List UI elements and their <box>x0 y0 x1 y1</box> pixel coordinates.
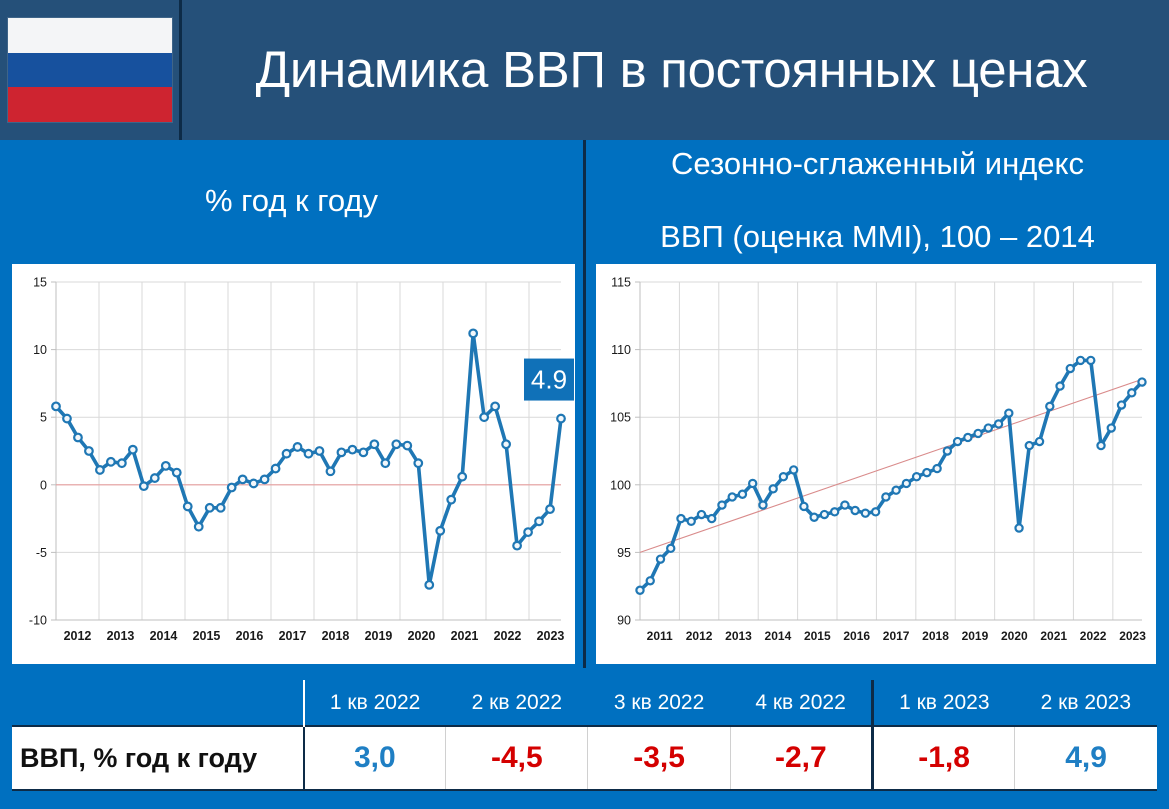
table-col-header-4: 1 кв 2023 <box>872 680 1014 726</box>
table-corner-cell <box>12 680 304 726</box>
x-tick-label: 2013 <box>107 629 135 643</box>
left-chart-subtitle: % год к году <box>0 140 583 262</box>
data-point-marker <box>821 511 828 518</box>
data-point-marker <box>118 459 126 467</box>
data-point-marker <box>1036 438 1043 445</box>
data-point-marker <box>841 501 848 508</box>
data-point-marker <box>1046 403 1053 410</box>
x-tick-label: 2018 <box>922 629 949 643</box>
data-point-marker <box>698 511 705 518</box>
data-point-marker <box>647 577 654 584</box>
data-point-marker <box>657 556 664 563</box>
y-tick-label: 105 <box>610 411 631 425</box>
data-point-marker <box>718 501 725 508</box>
page-title: Динамика ВВП в постоянных ценах <box>256 43 1088 97</box>
flag-stripe-red <box>8 87 172 122</box>
right-chart-subtitle: Сезонно-сглаженный индекс ВВП (оценка MM… <box>586 140 1169 262</box>
data-point-marker <box>239 476 247 484</box>
data-point-marker <box>96 466 104 474</box>
right-chart-panel-wrap: 1151101051009590201120122013201420152016… <box>586 262 1169 668</box>
data-point-marker <box>272 465 280 473</box>
summary-table: 1 кв 2022 2 кв 2022 3 кв 2022 4 кв 2022 … <box>12 680 1157 791</box>
x-tick-label: 2012 <box>64 629 92 643</box>
data-point-marker <box>107 458 115 466</box>
x-tick-label: 2019 <box>962 629 989 643</box>
data-point-marker <box>749 480 756 487</box>
series-line <box>640 360 1142 590</box>
data-point-marker <box>1056 383 1063 390</box>
data-point-marker <box>480 413 488 421</box>
data-point-marker <box>1128 389 1135 396</box>
y-tick-label: 100 <box>610 478 631 492</box>
data-point-marker <box>228 484 236 492</box>
subtitle-bar: % год к году Сезонно-сглаженный индекс В… <box>0 140 1169 262</box>
data-point-marker <box>414 459 422 467</box>
data-point-marker <box>535 518 543 526</box>
data-point-marker <box>283 450 291 458</box>
y-tick-label: 10 <box>33 343 47 357</box>
right-chart-subtitle-line2: ВВП (оценка MMI), 100 – 2014 <box>660 219 1095 256</box>
data-point-marker <box>636 587 643 594</box>
data-point-marker <box>852 507 859 514</box>
data-point-marker <box>140 482 148 490</box>
data-point-marker <box>151 474 159 482</box>
data-point-marker <box>447 496 455 504</box>
table-cell-4: -1,8 <box>872 726 1014 790</box>
x-tick-label: 2017 <box>279 629 307 643</box>
data-point-marker <box>1118 401 1125 408</box>
data-point-marker <box>974 430 981 437</box>
x-tick-label: 2014 <box>150 629 178 643</box>
data-point-marker <box>524 528 532 536</box>
y-tick-label: 115 <box>611 276 631 290</box>
data-point-marker <box>780 473 787 480</box>
data-point-marker <box>800 503 807 510</box>
x-tick-label: 2011 <box>647 629 673 643</box>
x-tick-label: 2014 <box>765 629 792 643</box>
table-cell-5: 4,9 <box>1015 726 1157 790</box>
flag-cell <box>0 0 182 140</box>
y-tick-label: 110 <box>611 343 631 357</box>
data-point-marker <box>206 504 214 512</box>
x-tick-label: 2020 <box>408 629 436 643</box>
x-tick-label: 2016 <box>843 629 870 643</box>
data-point-marker <box>349 446 357 454</box>
data-point-marker <box>557 415 565 423</box>
table-cell-3: -2,7 <box>730 726 872 790</box>
data-point-marker <box>425 581 433 589</box>
data-point-marker <box>913 473 920 480</box>
data-point-marker <box>371 440 379 448</box>
data-point-marker <box>759 501 766 508</box>
data-point-marker <box>872 508 879 515</box>
data-point-marker <box>688 518 695 525</box>
table-col-header-2: 3 кв 2022 <box>588 680 730 726</box>
x-tick-label: 2016 <box>236 629 264 643</box>
y-tick-label: 95 <box>617 546 631 560</box>
data-point-marker <box>903 480 910 487</box>
data-point-marker <box>862 510 869 517</box>
left-chart-panel-wrap: 151050-5-1020122013201420152016201720182… <box>0 262 583 668</box>
data-point-marker <box>305 450 313 458</box>
charts-row: 151050-5-1020122013201420152016201720182… <box>0 262 1169 668</box>
data-point-marker <box>882 493 889 500</box>
x-tick-label: 2017 <box>883 629 910 643</box>
table-col-header-5: 2 кв 2023 <box>1015 680 1157 726</box>
x-tick-label: 2013 <box>725 629 752 643</box>
data-point-marker <box>1138 378 1145 385</box>
x-tick-label: 2018 <box>322 629 350 643</box>
gdp-sa-index-chart: 1151101051009590201120122013201420152016… <box>596 264 1156 664</box>
data-point-marker <box>1015 524 1022 531</box>
data-point-marker <box>338 449 346 457</box>
data-point-marker <box>360 449 368 457</box>
data-point-marker <box>217 504 225 512</box>
data-point-marker <box>729 493 736 500</box>
data-point-marker <box>382 459 390 467</box>
gdp-yoy-chart: 151050-5-1020122013201420152016201720182… <box>12 264 575 664</box>
data-point-marker <box>1077 357 1084 364</box>
x-tick-label: 2023 <box>537 629 565 643</box>
data-point-marker <box>327 467 335 475</box>
data-point-marker <box>261 476 269 484</box>
x-tick-label: 2019 <box>365 629 393 643</box>
data-point-marker <box>677 515 684 522</box>
x-tick-label: 2012 <box>686 629 713 643</box>
right-chart-subtitle-text: Сезонно-сглаженный индекс ВВП (оценка MM… <box>660 146 1095 256</box>
table-cell-0: 3,0 <box>304 726 446 790</box>
table-cell-2: -3,5 <box>588 726 730 790</box>
data-point-marker <box>790 466 797 473</box>
y-tick-label: 15 <box>33 276 47 290</box>
table-cell-1: -4,5 <box>446 726 588 790</box>
x-tick-label: 2021 <box>1040 629 1067 643</box>
data-point-marker <box>316 447 324 455</box>
x-tick-label: 2015 <box>193 629 221 643</box>
data-point-marker <box>1026 442 1033 449</box>
data-point-marker <box>513 542 521 550</box>
y-tick-label: -5 <box>36 546 47 560</box>
table-col-header-0: 1 кв 2022 <box>304 680 446 726</box>
data-point-marker <box>770 485 777 492</box>
data-point-marker <box>739 491 746 498</box>
x-tick-label: 2022 <box>494 629 522 643</box>
data-point-marker <box>393 440 401 448</box>
x-tick-label: 2023 <box>1119 629 1146 643</box>
title-cell: Динамика ВВП в постоянных ценах <box>182 0 1169 140</box>
data-point-marker <box>954 438 961 445</box>
page-header: Динамика ВВП в постоянных ценах <box>0 0 1169 140</box>
data-point-marker <box>985 424 992 431</box>
y-tick-label: 90 <box>617 614 631 628</box>
y-tick-label: 0 <box>40 478 47 492</box>
data-point-marker <box>1108 424 1115 431</box>
data-point-marker <box>1067 365 1074 372</box>
data-point-marker <box>173 469 181 477</box>
right-chart-panel: 1151101051009590201120122013201420152016… <box>596 264 1156 664</box>
data-point-marker <box>469 330 477 338</box>
data-point-marker <box>708 515 715 522</box>
y-tick-label: -10 <box>29 614 47 628</box>
data-point-marker <box>491 403 499 411</box>
table-row-label: ВВП, % год к году <box>12 726 304 790</box>
data-point-marker <box>74 434 82 442</box>
data-point-marker <box>964 434 971 441</box>
data-point-marker <box>250 480 258 488</box>
data-point-marker <box>831 508 838 515</box>
data-point-marker <box>1097 442 1104 449</box>
table-row: ВВП, % год к году 3,0 -4,5 -3,5 -2,7 -1,… <box>12 726 1157 790</box>
data-point-marker <box>923 469 930 476</box>
table-col-header-1: 2 кв 2022 <box>446 680 588 726</box>
data-point-marker <box>85 447 93 455</box>
flag-stripe-blue <box>8 53 172 88</box>
data-point-marker <box>294 443 302 451</box>
data-point-marker <box>63 415 71 423</box>
data-point-marker <box>934 465 941 472</box>
data-point-marker <box>811 514 818 521</box>
x-tick-label: 2015 <box>804 629 831 643</box>
data-point-marker <box>129 446 137 454</box>
data-point-marker <box>184 503 192 511</box>
data-point-marker <box>436 527 444 535</box>
data-point-marker <box>404 442 412 450</box>
data-point-marker <box>52 403 60 411</box>
data-point-marker <box>502 440 510 448</box>
data-point-marker <box>458 473 466 481</box>
data-point-marker <box>995 420 1002 427</box>
last-value-callout: 4.9 <box>524 359 574 401</box>
data-point-marker <box>944 447 951 454</box>
data-point-marker <box>1005 410 1012 417</box>
data-point-marker <box>195 523 203 531</box>
summary-table-wrap: 1 кв 2022 2 кв 2022 3 кв 2022 4 кв 2022 … <box>0 668 1169 809</box>
data-point-marker <box>1087 357 1094 364</box>
svg-text:4.9: 4.9 <box>531 365 567 395</box>
flag-stripe-white <box>8 18 172 53</box>
left-chart-subtitle-text: % год к году <box>205 183 378 219</box>
x-tick-label: 2020 <box>1001 629 1028 643</box>
data-point-marker <box>162 462 170 470</box>
right-chart-subtitle-line1: Сезонно-сглаженный индекс <box>660 146 1095 183</box>
data-point-marker <box>893 487 900 494</box>
table-col-header-3: 4 кв 2022 <box>730 680 872 726</box>
y-tick-label: 5 <box>40 411 47 425</box>
table-header-row: 1 кв 2022 2 кв 2022 3 кв 2022 4 кв 2022 … <box>12 680 1157 726</box>
x-tick-label: 2021 <box>451 629 479 643</box>
data-point-marker <box>667 545 674 552</box>
russian-flag-icon <box>8 18 172 122</box>
series-line <box>56 333 561 584</box>
left-chart-panel: 151050-5-1020122013201420152016201720182… <box>12 264 575 664</box>
x-tick-label: 2022 <box>1080 629 1107 643</box>
data-point-marker <box>546 505 554 513</box>
